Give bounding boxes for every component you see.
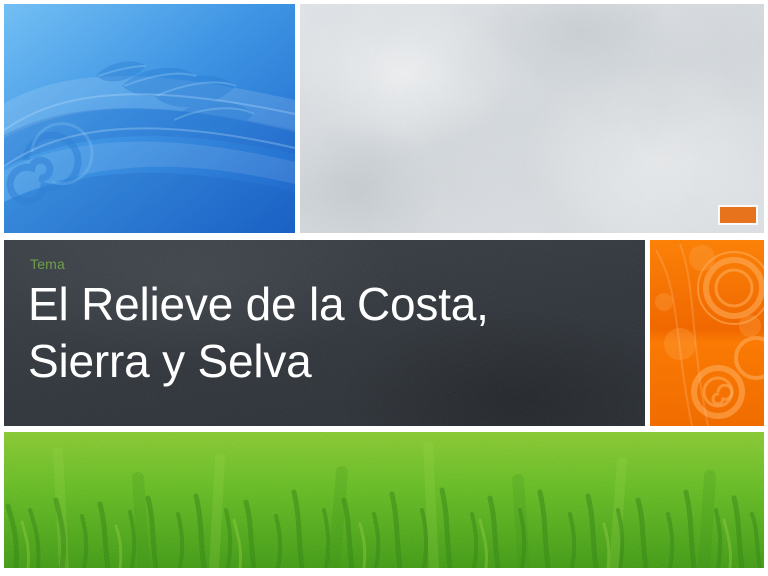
title-panel: Tema El Relieve de la Costa, Sierra y Se… [4, 240, 645, 426]
blue-decorative-panel [4, 4, 295, 233]
paper-texture-overlay [300, 4, 764, 233]
grass-blades-icon [4, 432, 764, 568]
blue-swirl-leaves-icon [4, 4, 295, 233]
slide-kicker: Tema [30, 256, 65, 272]
presentation-slide: Tema El Relieve de la Costa, Sierra y Se… [0, 0, 768, 576]
slide-title: El Relieve de la Costa, Sierra y Selva [28, 276, 628, 390]
gray-texture-panel [300, 4, 764, 233]
grass-panel [4, 432, 764, 568]
orange-accent-panel [650, 240, 764, 426]
orange-circles-icon [650, 240, 764, 426]
orange-accent-chip [720, 207, 756, 223]
